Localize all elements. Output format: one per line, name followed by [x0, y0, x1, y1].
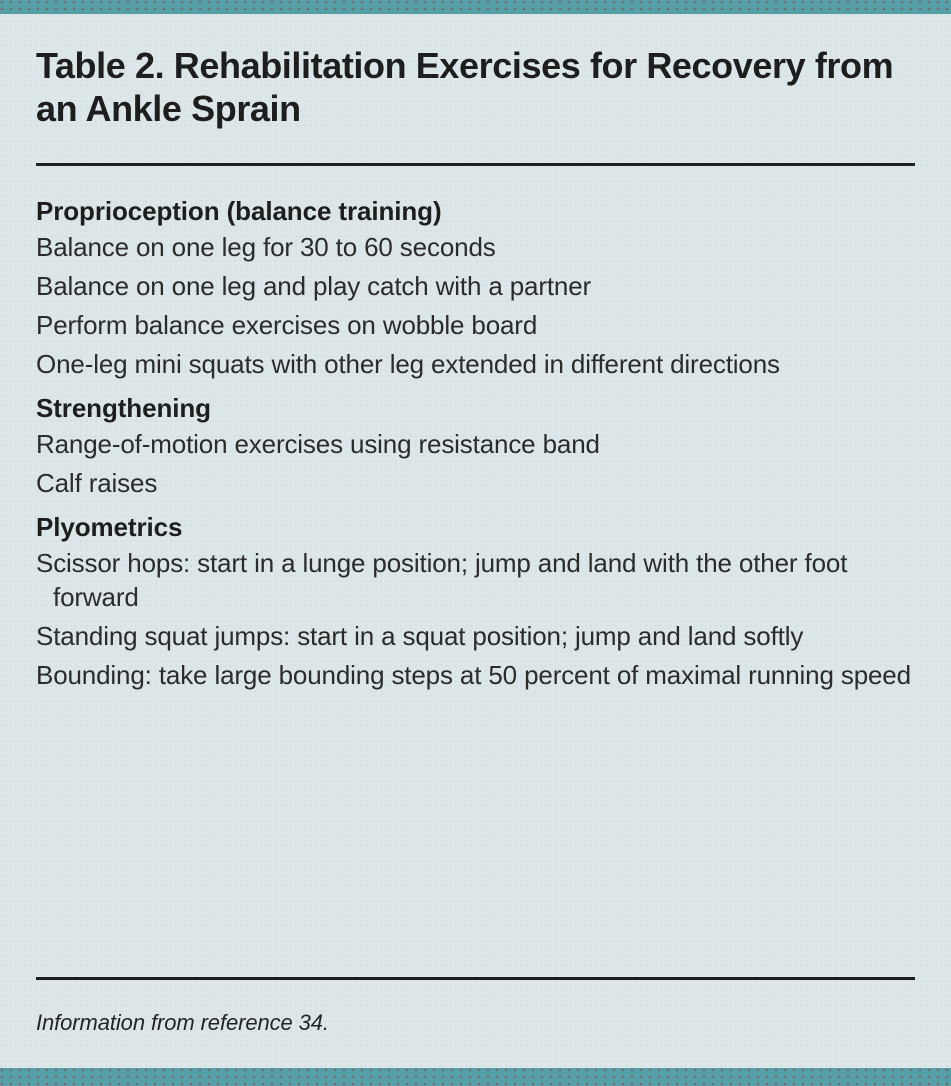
table-row: Standing squat jumps: start in a squat p…: [36, 619, 913, 653]
table-row: Perform balance exercises on wobble boar…: [36, 308, 913, 342]
table-row: Balance on one leg for 30 to 60 seconds: [36, 230, 913, 264]
table-row: One-leg mini squats with other leg exten…: [36, 347, 913, 381]
table-row: Balance on one leg and play catch with a…: [36, 269, 913, 303]
section-heading-strengthening: Strengthening: [36, 391, 916, 425]
table-footnote: Information from reference 34.: [36, 1010, 329, 1036]
table-row: Range-of-motion exercises using resistan…: [36, 427, 913, 461]
table-row: Calf raises: [36, 466, 913, 500]
table-figure: Table 2. Rehabilitation Exercises for Re…: [0, 14, 951, 1068]
table-row: Bounding: take large bounding steps at 5…: [36, 658, 913, 692]
table-title: Table 2. Rehabilitation Exercises for Re…: [36, 44, 906, 130]
top-accent-bar: [0, 0, 951, 14]
table-bottom-rule: [36, 977, 915, 980]
table-body: Proprioception (balance training) Balanc…: [36, 194, 916, 697]
table-top-rule: [36, 163, 915, 166]
table-row: Scissor hops: start in a lunge position;…: [36, 546, 913, 614]
section-heading-proprioception: Proprioception (balance training): [36, 194, 916, 228]
section-heading-plyometrics: Plyometrics: [36, 510, 916, 544]
bottom-accent-bar: [0, 1068, 951, 1086]
